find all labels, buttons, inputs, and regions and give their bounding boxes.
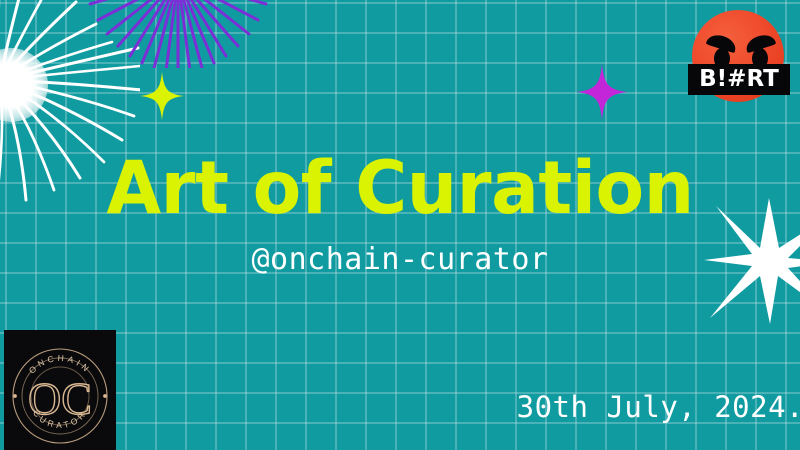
purple-starburst (88, 0, 268, 68)
censor-label: B!#RT (699, 68, 779, 91)
headline-block: Art of Curation @onchain-curator (0, 150, 800, 277)
page-title: Art of Curation (12, 150, 788, 228)
slide-canvas: Art of Curation @onchain-curator 30th Ju… (0, 0, 800, 450)
logo-monogram: OC (28, 373, 92, 424)
lime-four-point-sparkle (140, 72, 184, 120)
handle-text: @onchain-curator (0, 242, 800, 277)
onchain-curator-logo: ONCHAIN CURATOR OC (4, 330, 116, 450)
angry-emoji-badge: B!#RT (688, 8, 788, 108)
event-date: 30th July, 2024. (517, 390, 800, 424)
purple-four-point-sparkle (576, 64, 628, 120)
firework-core-glow (0, 48, 48, 122)
logo-emblem: ONCHAIN CURATOR OC (4, 330, 116, 450)
censor-bar: B!#RT (688, 64, 790, 95)
